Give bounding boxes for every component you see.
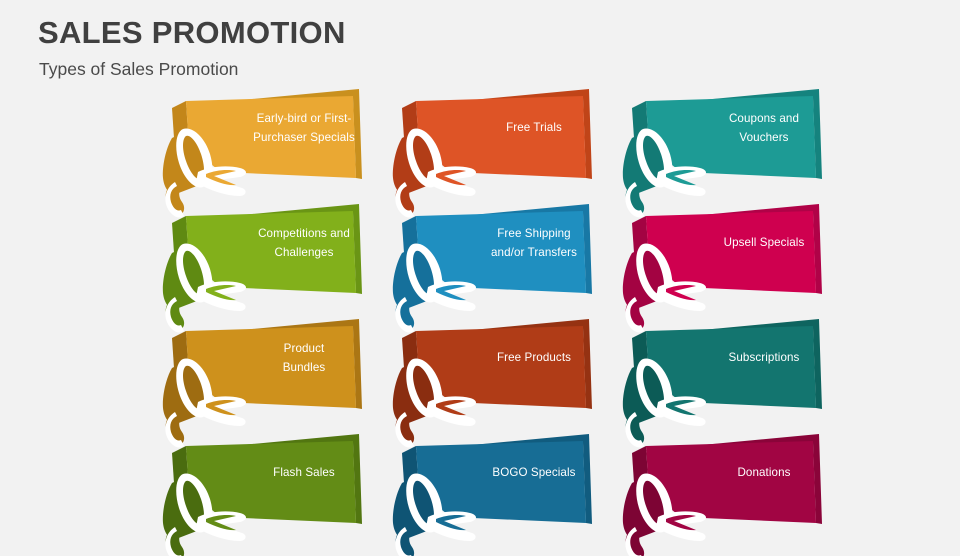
banner-shape — [390, 201, 630, 326]
banner-shape — [160, 201, 400, 326]
banner-shape — [620, 316, 860, 441]
banner-shape — [160, 431, 400, 556]
promotion-card[interactable]: Free Shippingand/or Transfers — [390, 201, 630, 326]
banner-shape — [620, 431, 860, 556]
promotion-card[interactable]: Coupons andVouchers — [620, 86, 860, 211]
banner-shape — [160, 86, 400, 211]
promotion-card[interactable]: Free Trials — [390, 86, 630, 211]
promotion-card[interactable]: Early-bird or First-Purchaser Specials — [160, 86, 400, 211]
banner-shape — [390, 431, 630, 556]
promotion-card[interactable]: BOGO Specials — [390, 431, 630, 556]
promotion-card[interactable]: ProductBundles — [160, 316, 400, 441]
promotion-card[interactable]: Flash Sales — [160, 431, 400, 556]
promotion-card[interactable]: Donations — [620, 431, 860, 556]
banner-shape — [160, 316, 400, 441]
promotion-card[interactable]: Upsell Specials — [620, 201, 860, 326]
promotion-card[interactable]: Subscriptions — [620, 316, 860, 441]
banner-shape — [390, 86, 630, 211]
slide-canvas: SALES PROMOTION Types of Sales Promotion… — [0, 0, 960, 540]
banner-shape — [390, 316, 630, 441]
banner-shape — [620, 86, 860, 211]
promotion-card[interactable]: Competitions andChallenges — [160, 201, 400, 326]
banner-grid: Early-bird or First-Purchaser SpecialsFr… — [0, 0, 960, 540]
promotion-card[interactable]: Free Products — [390, 316, 630, 441]
banner-shape — [620, 201, 860, 326]
